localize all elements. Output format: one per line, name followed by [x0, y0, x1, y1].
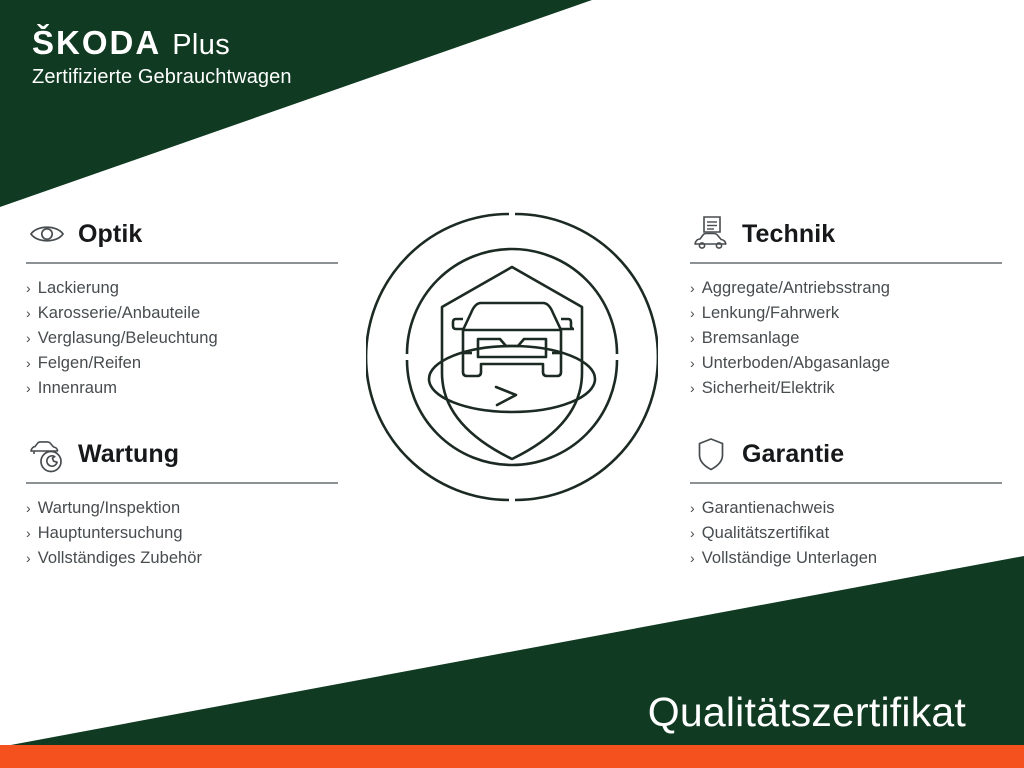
list-item-label: Lackierung [38, 276, 119, 301]
list-item: ›Garantienachweis [690, 496, 1002, 521]
section-optik-list: ›Lackierung ›Karosserie/Anbauteile ›Verg… [26, 264, 338, 401]
car-wrench-icon [26, 433, 68, 475]
chevron-right-icon: › [26, 301, 31, 326]
brand-logo-primary: ŠKODA Plus [32, 26, 292, 60]
list-item-label: Vollständiges Zubehör [38, 546, 202, 571]
section-wartung-list: ›Wartung/Inspektion ›Hauptuntersuchung ›… [26, 484, 338, 571]
list-item-label: Hauptuntersuchung [38, 521, 183, 546]
list-item: ›Lenkung/Fahrwerk [690, 301, 1002, 326]
chevron-right-icon: › [690, 376, 695, 401]
section-optik-header: Optik [26, 212, 338, 256]
list-item-label: Karosserie/Anbauteile [38, 301, 200, 326]
list-item: ›Felgen/Reifen [26, 351, 338, 376]
section-garantie: Garantie ›Garantienachweis ›Qualitätszer… [690, 432, 1002, 571]
section-wartung-header: Wartung [26, 432, 338, 476]
list-item: ›Qualitätszertifikat [690, 521, 1002, 546]
brand-tagline: Zertifizierte Gebrauchtwagen [32, 66, 292, 88]
list-item: ›Vollständiges Zubehör [26, 546, 338, 571]
list-item: ›Lackierung [26, 276, 338, 301]
eye-icon [26, 213, 68, 255]
section-wartung: Wartung ›Wartung/Inspektion ›Hauptunters… [26, 432, 338, 571]
chevron-right-icon: › [26, 351, 31, 376]
list-item: ›Karosserie/Anbauteile [26, 301, 338, 326]
section-garantie-header: Garantie [690, 432, 1002, 476]
list-item-label: Sicherheit/Elektrik [702, 376, 835, 401]
orange-footer-bar [0, 745, 1024, 768]
section-technik-list: ›Aggregate/Antriebsstrang ›Lenkung/Fahrw… [690, 264, 1002, 401]
list-item: ›Vollständige Unterlagen [690, 546, 1002, 571]
section-technik-title: Technik [742, 222, 835, 247]
brand-name: ŠKODA [32, 26, 161, 59]
list-item: ›Wartung/Inspektion [26, 496, 338, 521]
section-garantie-title: Garantie [742, 442, 844, 467]
document-car-icon [690, 213, 732, 255]
chevron-right-icon: › [690, 326, 695, 351]
chevron-right-icon: › [690, 301, 695, 326]
list-item-label: Verglasung/Beleuchtung [38, 326, 218, 351]
list-item-label: Bremsanlage [702, 326, 800, 351]
list-item-label: Wartung/Inspektion [38, 496, 180, 521]
section-technik: Technik ›Aggregate/Antriebsstrang ›Lenku… [690, 212, 1002, 401]
quality-certificate-page: ŠKODA Plus Zertifizierte Gebrauchtwagen … [0, 0, 1024, 768]
section-optik-title: Optik [78, 222, 142, 247]
shield-car-rotation-emblem [366, 197, 658, 517]
section-technik-header: Technik [690, 212, 1002, 256]
brand-suffix: Plus [172, 31, 230, 60]
chevron-right-icon: › [690, 521, 695, 546]
list-item-label: Unterboden/Abgasanlage [702, 351, 890, 376]
section-wartung-title: Wartung [78, 442, 179, 467]
chevron-right-icon: › [690, 351, 695, 376]
section-optik: Optik ›Lackierung ›Karosserie/Anbauteile… [26, 212, 338, 401]
chevron-right-icon: › [26, 496, 31, 521]
section-garantie-list: ›Garantienachweis ›Qualitätszertifikat ›… [690, 484, 1002, 571]
list-item-label: Felgen/Reifen [38, 351, 141, 376]
list-item-label: Garantienachweis [702, 496, 835, 521]
list-item-label: Qualitätszertifikat [702, 521, 830, 546]
chevron-right-icon: › [690, 496, 695, 521]
shield-icon [690, 433, 732, 475]
list-item-label: Lenkung/Fahrwerk [702, 301, 839, 326]
list-item: ›Sicherheit/Elektrik [690, 376, 1002, 401]
brand-logo: ŠKODA Plus Zertifizierte Gebrauchtwagen [32, 26, 292, 88]
chevron-right-icon: › [26, 326, 31, 351]
list-item: ›Hauptuntersuchung [26, 521, 338, 546]
chevron-right-icon: › [26, 546, 31, 571]
chevron-right-icon: › [26, 276, 31, 301]
list-item: ›Bremsanlage [690, 326, 1002, 351]
list-item-label: Vollständige Unterlagen [702, 546, 877, 571]
chevron-right-icon: › [26, 376, 31, 401]
banner-title: Qualitätszertifikat [648, 692, 966, 733]
list-item: ›Unterboden/Abgasanlage [690, 351, 1002, 376]
chevron-right-icon: › [26, 521, 31, 546]
chevron-right-icon: › [690, 276, 695, 301]
list-item: ›Verglasung/Beleuchtung [26, 326, 338, 351]
list-item-label: Aggregate/Antriebsstrang [702, 276, 890, 301]
list-item: ›Innenraum [26, 376, 338, 401]
list-item-label: Innenraum [38, 376, 117, 401]
chevron-right-icon: › [690, 546, 695, 571]
list-item: ›Aggregate/Antriebsstrang [690, 276, 1002, 301]
